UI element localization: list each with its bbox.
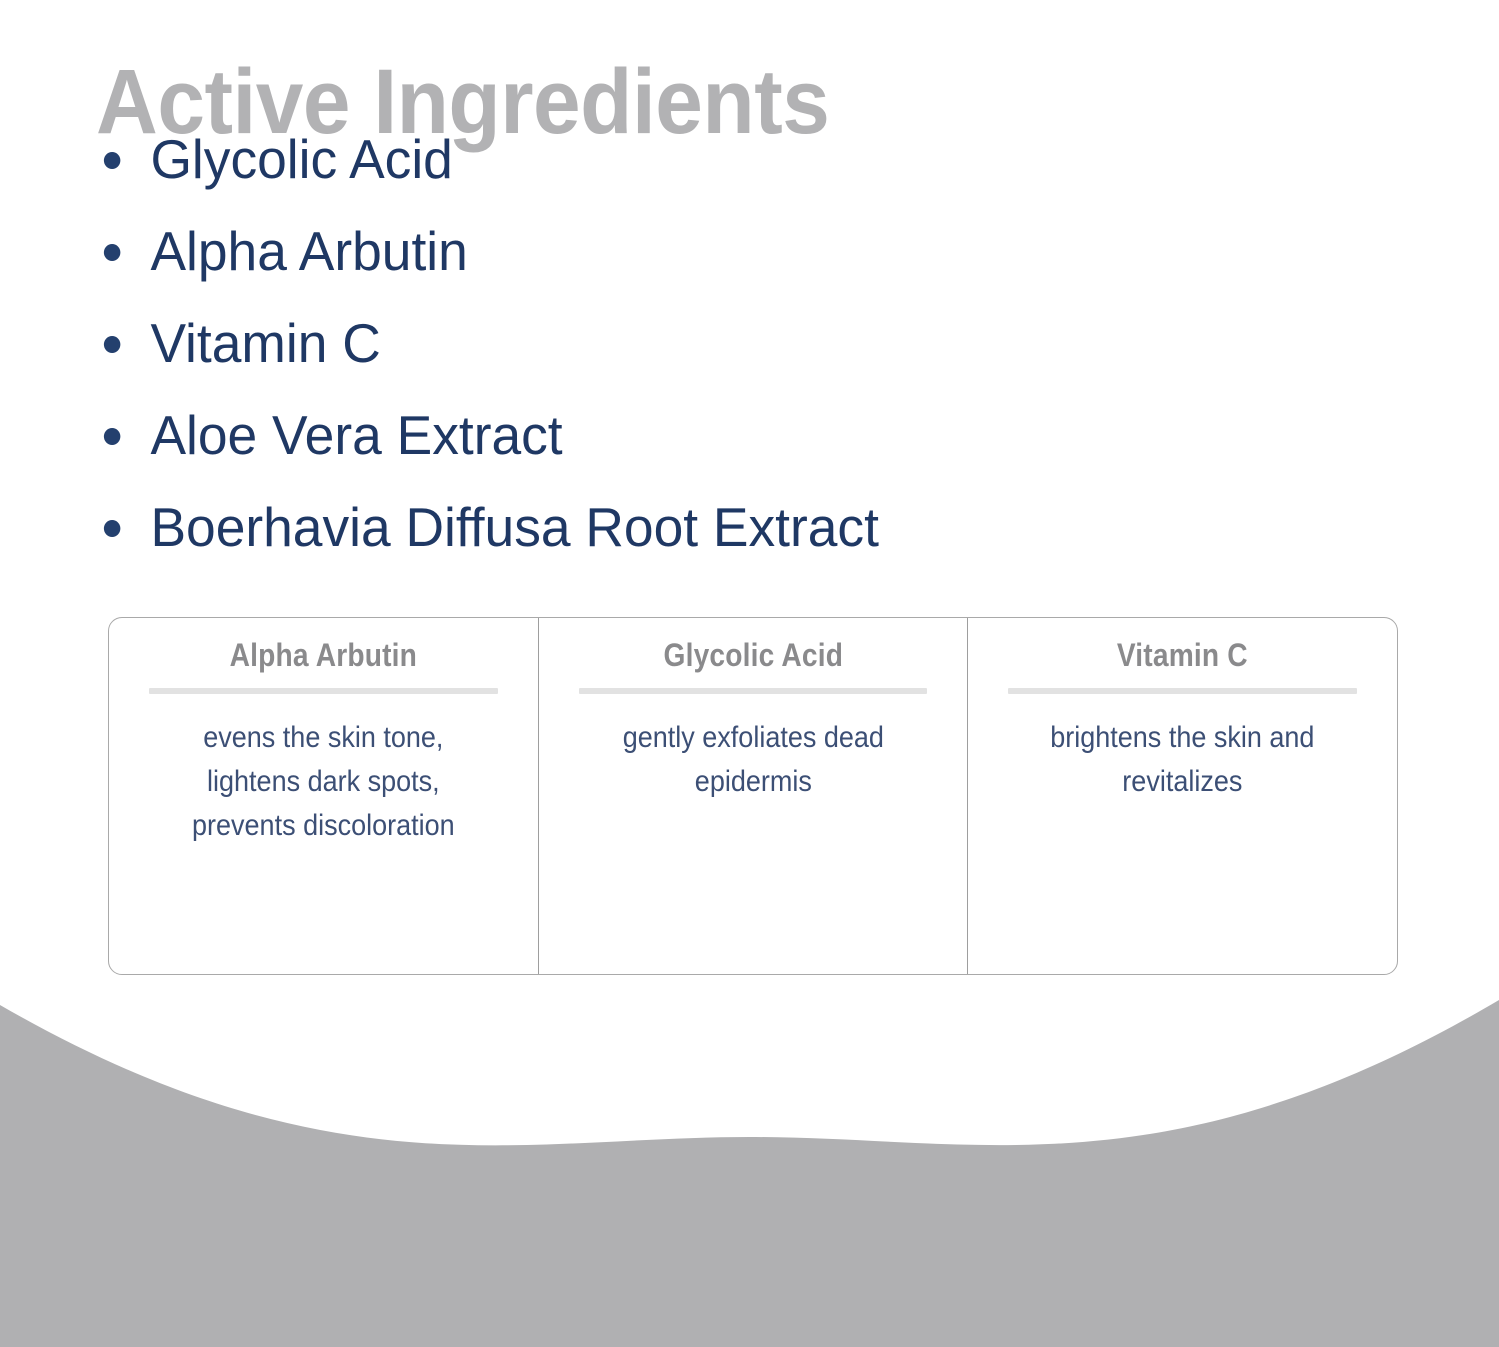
list-item: Vitamin C [100,312,1264,374]
list-item: Aloe Vera Extract [100,404,1264,466]
benefit-column-description: brightens the skin and revitalizes [1013,716,1352,804]
bullet-icon [104,520,120,537]
benefit-column-description: gently exfoliates dead epidermis [584,716,923,804]
bullet-icon [104,428,120,445]
bullet-icon [104,152,120,169]
divider [1008,688,1357,694]
benefit-column-description: evens the skin tone, lightens dark spots… [154,716,493,848]
product-ingredients-panel: Active Ingredients Glycolic Acid Alpha A… [0,0,1499,1347]
ingredient-label: Boerhavia Diffusa Root Extract [150,496,878,558]
benefit-column-title: Glycolic Acid [587,634,918,676]
benefit-column-glycolic-acid: Glycolic Acid gently exfoliates dead epi… [538,618,968,974]
ingredient-label: Aloe Vera Extract [150,404,562,466]
benefit-column-alpha-arbutin: Alpha Arbutin evens the skin tone, light… [109,618,538,974]
benefit-column-title: Alpha Arbutin [158,634,489,676]
bullet-icon [104,244,120,261]
ingredient-label: Alpha Arbutin [150,220,467,282]
list-item: Boerhavia Diffusa Root Extract [100,496,1264,558]
benefit-card: Alpha Arbutin evens the skin tone, light… [108,617,1398,975]
list-item: Alpha Arbutin [100,220,1264,282]
benefit-column-vitamin-c: Vitamin C brightens the skin and revital… [967,618,1397,974]
ingredient-list: Glycolic Acid Alpha Arbutin Vitamin C Al… [100,128,1300,588]
benefit-column-title: Vitamin C [1017,634,1348,676]
bullet-icon [104,336,120,353]
ingredient-label: Glycolic Acid [150,128,452,190]
bottom-curved-band [0,985,1499,1347]
ingredient-label: Vitamin C [150,312,380,374]
divider [579,688,928,694]
divider [149,688,498,694]
list-item: Glycolic Acid [100,128,1264,190]
bottom-band-shape [0,985,1499,1347]
